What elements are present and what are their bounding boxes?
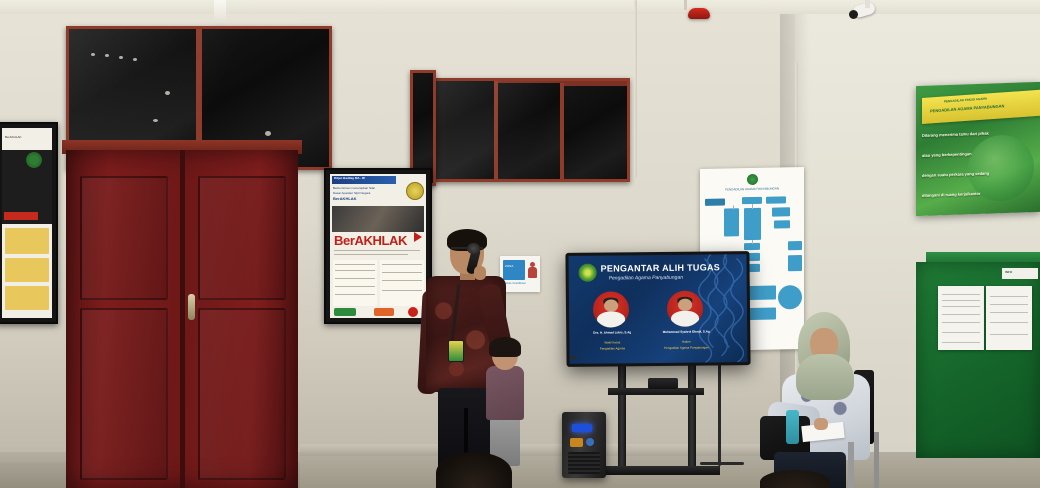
cctv-camera-icon <box>849 4 875 18</box>
org-chart-node <box>744 208 761 240</box>
foreground-audience-head <box>436 452 512 488</box>
speaker-id-badge <box>448 340 464 362</box>
portable-speaker[interactable] <box>562 412 606 478</box>
slide-title: PENGANTAR ALIH TUGAS <box>601 263 721 274</box>
person-child <box>484 340 524 470</box>
speaker-display <box>572 424 592 432</box>
wall-conduit <box>634 0 637 178</box>
window-pane <box>413 73 433 183</box>
poster-sheet: Ditjen Badilag MA - RI Berkomitmen mener… <box>330 174 426 318</box>
woman-hand <box>814 418 828 430</box>
org-chart-node <box>788 255 802 271</box>
photo-scene: BerAKHLAK Ditjen Badilag MA - RI Berkomi… <box>0 0 1040 488</box>
notice-board-tag-text: INFO <box>1005 271 1012 274</box>
window-reflection <box>165 91 170 95</box>
door-panel <box>80 308 168 480</box>
child-hair <box>489 337 521 357</box>
banner-ribbon-line1: PENGADILAN TINGGI AGAMA <box>944 97 987 103</box>
poster-sheet: BerAKHLAK <box>2 128 52 318</box>
tv-stand-base <box>592 466 720 475</box>
cctv-lens <box>849 10 858 19</box>
banner-body-line4: ditangani di ruang kerja/kantor <box>922 192 980 198</box>
chair-leg <box>848 442 854 488</box>
water-bottle <box>786 410 799 444</box>
banner-body-line2: atau yang berkepentingan <box>922 152 972 158</box>
ceiling <box>0 0 1040 14</box>
window-reflection <box>153 119 158 122</box>
poster-logo-ma-ri <box>408 307 418 317</box>
poster-badge <box>406 182 424 200</box>
banner-ribbon-line2: PENGADILAN AGAMA PANYABUNGAN <box>930 104 1004 113</box>
power-cable <box>700 462 744 465</box>
window-reflection <box>265 131 271 136</box>
wall-sign-figure-icon <box>528 262 536 278</box>
slide-logo-icon <box>579 264 597 282</box>
slide-person-role-1: Wakil Ketua <box>579 341 645 345</box>
tv-stand-shelf <box>608 388 704 395</box>
poster-block <box>5 228 49 254</box>
org-chart-node <box>772 207 790 216</box>
org-chart-node <box>766 196 786 203</box>
poster-brand-small: BerAKHLAK <box>333 197 357 201</box>
tv-screen: PENGANTAR ALIH TUGAS Pengadilan Agama Pa… <box>568 254 747 364</box>
portrait-shirt <box>597 312 625 328</box>
slide-portrait <box>593 291 629 327</box>
tv-stand-post <box>618 358 626 470</box>
org-chart-node <box>774 220 790 228</box>
banner-body-line1: Dilarang menerima tamu dari pihak <box>922 132 989 139</box>
door-panel <box>80 176 168 300</box>
baseboard <box>300 444 800 456</box>
window-reflection <box>91 53 95 56</box>
slide-person-name-1: Drs. H. Ahmad Lubis, S.Ag <box>579 331 645 335</box>
poster-accent <box>4 212 38 220</box>
door-panel <box>198 308 286 480</box>
poster-left-title: BerAKHLAK <box>5 136 22 139</box>
figure-body <box>528 267 537 278</box>
poster-logo-secondary <box>374 308 394 316</box>
speaker-grille <box>568 452 600 474</box>
window-right <box>428 78 630 182</box>
tv-stand-post <box>688 358 696 470</box>
org-chart-circle <box>778 285 802 309</box>
poster-block <box>5 258 49 282</box>
poster-rule <box>334 254 408 255</box>
poster-logo-badilag <box>334 308 356 316</box>
slide-person-office-1: Pengadilan Agama <box>579 347 645 351</box>
media-player-device[interactable] <box>648 378 678 389</box>
door-center-seam <box>180 150 185 488</box>
window-glare <box>431 81 627 179</box>
hijab-drape <box>796 354 854 400</box>
notice-board-tag: INFO <box>1002 268 1038 279</box>
banner-ribbon: PENGADILAN TINGGI AGAMA PENGADILAN AGAMA… <box>922 90 1040 124</box>
poster-header-text: Ditjen Badilag MA - RI <box>334 177 365 180</box>
poster-group-photo <box>332 206 424 232</box>
poster-rule <box>334 250 420 251</box>
org-chart-title: PENGADILAN AGAMA PANYABUNGAN <box>700 187 804 192</box>
foreground-audience-head <box>760 470 830 488</box>
fire-alarm-icon <box>688 8 710 19</box>
notice-paper <box>986 286 1032 350</box>
window-reflection <box>133 58 137 61</box>
poster-sub1: Berkomitmen menerapkan Nilai <box>333 187 375 190</box>
portrait-face <box>604 299 618 311</box>
org-chart-seal <box>747 174 758 185</box>
notice-board <box>916 262 1040 458</box>
slide-subtitle: Pengadilan Agama Panyabungan <box>609 276 683 282</box>
person-seated-woman <box>762 312 884 488</box>
framed-poster-left: BerAKHLAK <box>0 122 58 324</box>
org-chart-node <box>788 241 802 250</box>
microphone-head <box>467 243 480 254</box>
framed-poster-berakhlak: Ditjen Badilag MA - RI Berkomitmen mener… <box>324 168 432 324</box>
child-top <box>486 366 524 420</box>
power-cable <box>718 360 721 466</box>
poster-block <box>5 286 49 310</box>
green-warning-banner: PENGADILAN TINGGI AGAMA PENGADILAN AGAMA… <box>916 82 1040 216</box>
org-chart-node <box>705 199 725 206</box>
window-reflection <box>119 56 123 59</box>
portrait-shirt <box>671 311 699 327</box>
poster-seal <box>26 152 42 168</box>
window-reflection <box>105 54 109 57</box>
speaker-button[interactable] <box>586 438 594 446</box>
portrait-face <box>678 299 692 311</box>
poster-sub2: Dasar Aparatur Sipil Negara <box>333 192 370 195</box>
slide-portrait <box>667 291 703 327</box>
org-chart-node <box>724 208 739 236</box>
speaker-hand <box>474 266 486 280</box>
speaker-knob[interactable] <box>570 438 583 447</box>
door-panel <box>198 176 286 300</box>
led-tv[interactable]: PENGANTAR ALIH TUGAS Pengadilan Agama Pa… <box>565 251 750 367</box>
poster-title-berakhlak: BerAKHLAK <box>334 234 407 248</box>
cctv-mount <box>865 0 870 8</box>
chair-leg <box>874 432 879 488</box>
poster-column <box>333 260 377 306</box>
door-handle[interactable] <box>188 294 195 320</box>
notice-paper <box>938 286 984 350</box>
tv-brand-logo <box>570 356 577 359</box>
alarm-mount <box>684 0 687 10</box>
